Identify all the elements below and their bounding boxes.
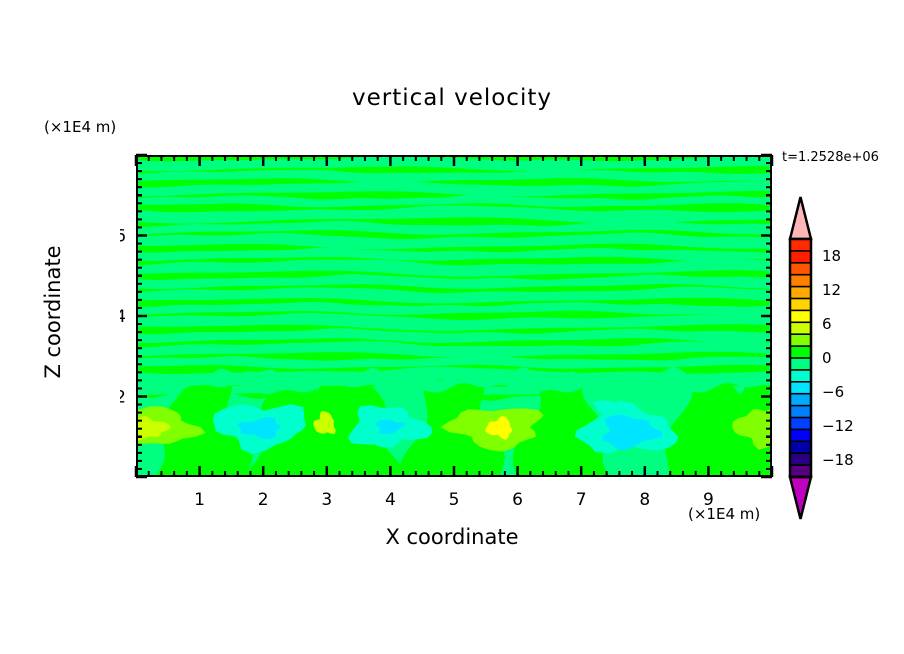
colorbar-bands xyxy=(790,197,811,519)
z-axis-title: Z coordinate xyxy=(41,242,65,382)
z-axis-ticks xyxy=(136,155,772,477)
colorbar-band-14 xyxy=(790,406,811,419)
colorbar: 181260−6−12−18 xyxy=(776,195,904,525)
x-axis-tick-labels: 123456789 xyxy=(194,490,714,510)
z-axis-tick-labels: 246 xyxy=(120,227,126,408)
colorbar-band-8 xyxy=(790,334,811,347)
colorbar-band-6 xyxy=(790,310,811,323)
colorbar-band-0 xyxy=(790,239,811,252)
colorbar-band-10 xyxy=(790,358,811,371)
z-tick-label-6: 6 xyxy=(120,227,126,247)
colorbar-band-2 xyxy=(790,263,811,276)
x-axis-unit-label: (×1E4 m) xyxy=(688,505,760,523)
x-tick-label-8: 8 xyxy=(639,490,650,510)
colorbar-labels: 181260−6−12−18 xyxy=(822,247,854,469)
colorbar-band-9 xyxy=(790,346,811,359)
x-axis-ticks xyxy=(136,155,772,477)
colorbar-band-17 xyxy=(790,441,811,454)
chart-title: vertical velocity xyxy=(0,85,904,111)
colorbar-band-11 xyxy=(790,370,811,383)
x-tick-label-4: 4 xyxy=(385,490,396,510)
colorbar-band-13 xyxy=(790,394,811,407)
colorbar-band-1 xyxy=(790,251,811,264)
colorbar-over-arrow xyxy=(790,197,811,239)
x-tick-label-3: 3 xyxy=(321,490,332,510)
colorbar-label-6: −18 xyxy=(822,451,854,469)
z-axis-unit-label: (×1E4 m) xyxy=(44,118,116,136)
x-tick-label-1: 1 xyxy=(194,490,205,510)
z-tick-label-4: 4 xyxy=(120,307,126,327)
z-tick-label-2: 2 xyxy=(120,388,126,408)
colorbar-band-18 xyxy=(790,453,811,466)
colorbar-label-0: 18 xyxy=(822,247,841,265)
colorbar-label-1: 12 xyxy=(822,281,841,299)
colorbar-label-3: 0 xyxy=(822,349,832,367)
colorbar-band-15 xyxy=(790,418,811,431)
colorbar-band-5 xyxy=(790,299,811,312)
x-tick-label-2: 2 xyxy=(258,490,269,510)
colorbar-label-5: −12 xyxy=(822,417,854,435)
colorbar-band-4 xyxy=(790,287,811,300)
colorbar-band-16 xyxy=(790,429,811,442)
x-tick-label-5: 5 xyxy=(449,490,460,510)
x-tick-label-6: 6 xyxy=(512,490,523,510)
colorbar-band-3 xyxy=(790,275,811,288)
colorbar-label-4: −6 xyxy=(822,383,844,401)
x-tick-label-7: 7 xyxy=(576,490,587,510)
colorbar-under-arrow xyxy=(790,477,811,519)
colorbar-band-19 xyxy=(790,465,811,478)
x-axis-title: X coordinate xyxy=(0,525,904,549)
colorbar-band-7 xyxy=(790,322,811,335)
colorbar-band-12 xyxy=(790,382,811,395)
colorbar-label-2: 6 xyxy=(822,315,832,333)
